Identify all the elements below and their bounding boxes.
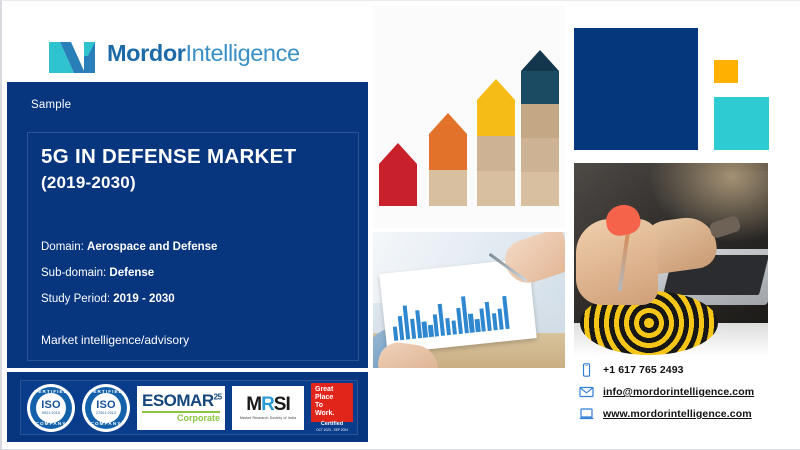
house-block-1: [379, 143, 417, 206]
brand-name-bold: Mordor: [107, 40, 186, 66]
contact-phone-text: +1 617 765 2493: [603, 364, 684, 376]
wooden-house-blocks-growth-photo: [373, 6, 565, 228]
badge-iso-9001: CERTIFIED COMPANY ISO 9001:2015: [27, 384, 75, 432]
badge-iso-27001: CERTIFIED COMPANY ISO 27001:2013: [82, 384, 130, 432]
contact-phone-row[interactable]: +1 617 765 2493: [579, 363, 754, 377]
gptw-line-4: Work.: [315, 410, 349, 418]
house-block-2: [429, 113, 467, 206]
contact-block: +1 617 765 2493 info@mordorintelligence.…: [579, 363, 754, 421]
badge-great-place-to-work: Great Place To Work. Certified OCT 2023 …: [311, 383, 353, 433]
iso-label: ISO: [41, 400, 61, 411]
meta-key: Sub-domain:: [41, 267, 106, 279]
house-block-3: [477, 79, 515, 206]
amber-square: [714, 60, 738, 83]
page-title: 5G IN DEFENSE MARKET: [41, 144, 296, 170]
meta-value: 2019 - 2030: [113, 293, 174, 305]
contact-email-text[interactable]: info@mordorintelligence.com: [603, 386, 754, 398]
business-chart-paper-photo: [373, 232, 565, 368]
brand-name-light: Intelligence: [186, 40, 300, 66]
page-subtitle: (2019-2030): [41, 173, 136, 193]
iso-label: ISO: [96, 400, 116, 411]
advisory-tagline: Market intelligence/advisory: [41, 333, 189, 347]
gptw-line-2: Place: [315, 394, 349, 402]
gptw-headline: Great Place To Work.: [311, 383, 353, 422]
contact-email-row[interactable]: info@mordorintelligence.com: [579, 385, 754, 399]
mrsi-mark-left: M: [246, 394, 261, 415]
certification-badges: CERTIFIED COMPANY ISO 9001:2015 CERTIFIE…: [20, 380, 358, 435]
esomar-superscript: 25: [214, 392, 222, 401]
gptw-certified-period: OCT 2023 - SEP 2024: [316, 429, 348, 432]
badge-mrsi: MRSI Market Research Society of India: [232, 386, 304, 430]
contact-website-row[interactable]: www.mordorintelligence.com: [579, 407, 754, 421]
meta-value: Aerospace and Defense: [87, 241, 217, 253]
meta-key: Domain:: [41, 241, 84, 253]
sample-label: Sample: [31, 99, 71, 111]
iso-standard-number: 9001:2015: [42, 412, 60, 416]
navy-square: [574, 28, 698, 150]
house-block-4: [521, 50, 559, 206]
contact-website-text[interactable]: www.mordorintelligence.com: [603, 408, 752, 420]
badge-esomar: ESOMAR25 Corporate: [137, 386, 225, 430]
report-cover-page: MordorIntelligence Sample 5G IN DEFENSE …: [0, 0, 800, 450]
esomar-caption: Corporate: [142, 414, 220, 423]
meta-key: Study Period:: [41, 293, 110, 305]
meta-row-subdomain: Sub-domain: Defense: [41, 267, 217, 279]
laptop-icon: [579, 407, 594, 421]
esomar-label: ESOMAR: [142, 391, 214, 410]
phone-icon: [579, 363, 594, 377]
printed-bar-chart: [389, 283, 509, 341]
gptw-line-3: To: [315, 402, 349, 410]
meta-row-domain: Domain: Aerospace and Defense: [41, 241, 217, 253]
mrsi-caption: Market Research Society of India: [240, 417, 296, 421]
mordor-m-mark-icon: [48, 34, 98, 74]
iso-standard-number: 27001:2013: [96, 412, 116, 416]
gptw-certified-label: Certified: [321, 422, 343, 428]
mrsi-mark-mid: R: [261, 394, 274, 415]
brand-name: MordorIntelligence: [107, 42, 300, 66]
brand-logo[interactable]: MordorIntelligence: [48, 34, 300, 74]
mrsi-mark-right: SI: [274, 394, 290, 415]
teal-square: [714, 97, 769, 150]
gptw-line-1: Great: [315, 386, 349, 394]
dart-on-target-laptop-photo: [574, 163, 768, 357]
envelope-icon: [579, 385, 594, 399]
meta-value: Defense: [109, 267, 154, 279]
gptw-certified-block: Certified OCT 2023 - SEP 2024: [311, 422, 353, 433]
report-meta-list: Domain: Aerospace and Defense Sub-domain…: [41, 241, 217, 305]
meta-row-study-period: Study Period: 2019 - 2030: [41, 293, 217, 305]
